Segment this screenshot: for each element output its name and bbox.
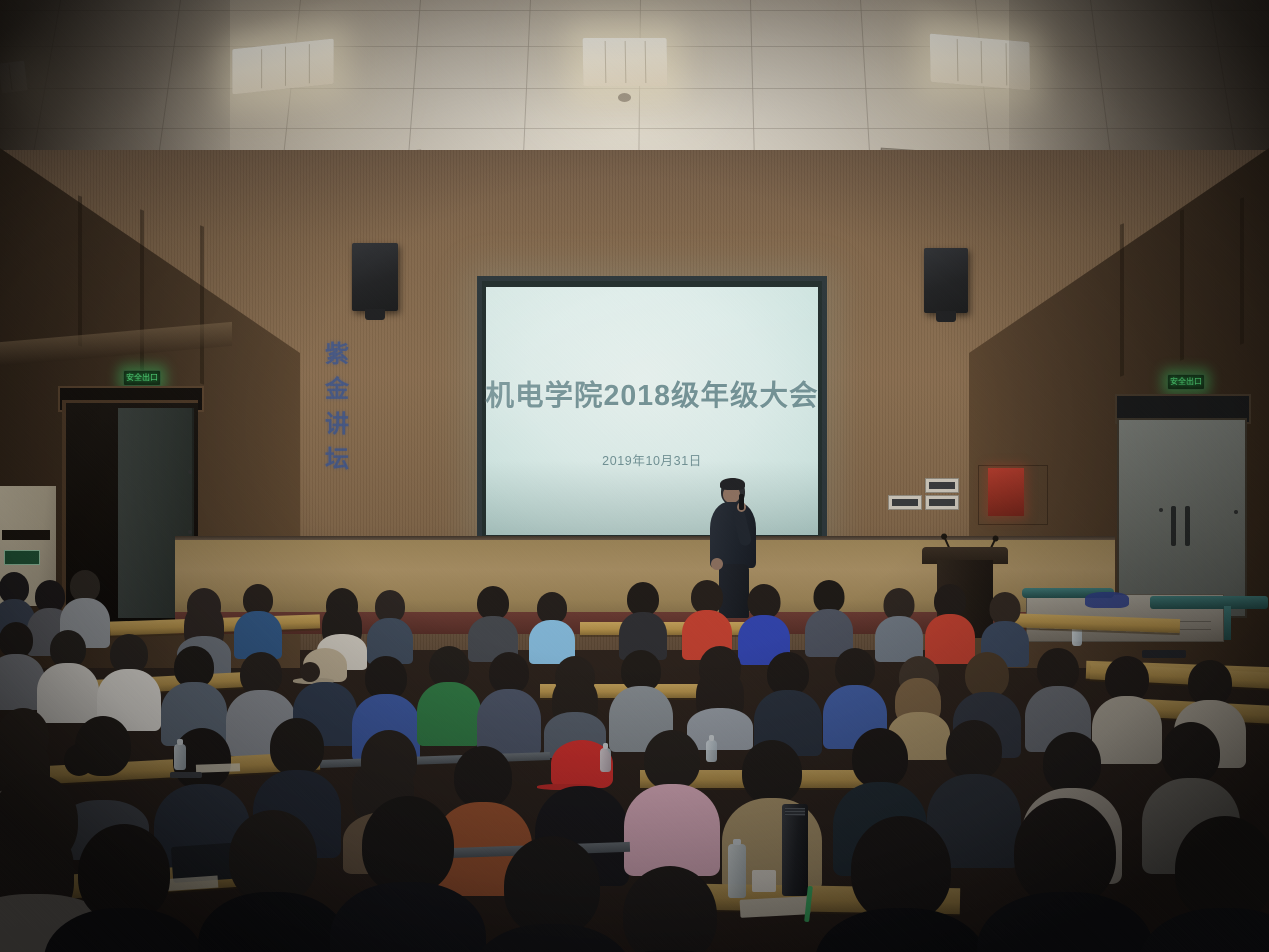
- black-thermos: [782, 804, 808, 896]
- ceiling-sensor: [618, 93, 631, 102]
- head: [229, 810, 317, 904]
- eyeglasses: [170, 772, 202, 778]
- presenter-handheld-microphone: [739, 494, 744, 510]
- head: [623, 866, 717, 952]
- audience-member: [236, 584, 280, 656]
- red-notice-sign: [988, 468, 1024, 516]
- white-cup: [752, 870, 776, 892]
- audience-member-front: [826, 816, 976, 952]
- left-door-hinge: [188, 470, 192, 474]
- head: [644, 730, 700, 790]
- audience-member: [0, 622, 42, 708]
- exit-sign-left: 安全出口: [123, 370, 161, 386]
- audience-member-front: [1150, 816, 1269, 952]
- head: [477, 586, 509, 620]
- calligraphy-char: 紫: [325, 342, 349, 366]
- head: [691, 580, 723, 614]
- wall-calligraphy: 紫 金 讲 坛: [314, 342, 360, 471]
- exit-sign-right: 安全出口: [1167, 374, 1205, 390]
- head: [1043, 732, 1101, 794]
- wall-plate: [925, 478, 959, 493]
- audience-member: [758, 652, 818, 754]
- audience-member: [40, 630, 96, 720]
- torso: [624, 784, 720, 876]
- exit-sign-text: 安全出口: [1170, 378, 1202, 386]
- calligraphy-char: 金: [325, 377, 349, 401]
- torso: [815, 908, 987, 952]
- head: [362, 796, 454, 894]
- audience-member-front: [990, 798, 1140, 952]
- left-door-hinge: [188, 530, 192, 534]
- water-bottle: [174, 744, 186, 770]
- wall-plate: [925, 495, 959, 510]
- audience-member: [630, 730, 714, 876]
- head: [1162, 722, 1220, 784]
- audience-member-front: [600, 866, 740, 952]
- projected-slide: 机电学院2018级年级大会 2019年10月31日: [486, 287, 818, 535]
- wall-panel-seam: [200, 225, 204, 385]
- projection-screen: 机电学院2018级年级大会 2019年10月31日: [477, 276, 827, 546]
- head: [1014, 798, 1116, 906]
- head: [852, 728, 908, 788]
- audience-member: [100, 634, 158, 726]
- ceiling-light-panel: [583, 38, 668, 86]
- right-door-screw: [1159, 508, 1163, 512]
- lecture-hall-photo: 紫 金 讲 坛 安全出口 安全出口 机电学院2018级年级大会 2019年10月…: [0, 0, 1269, 952]
- presenter-hair: [720, 478, 745, 490]
- water-bottle: [600, 748, 611, 772]
- calligraphy-char: 讲: [325, 412, 349, 436]
- hair-bun: [64, 744, 94, 776]
- wall-panel-seam: [78, 195, 82, 347]
- audience-member: [806, 580, 852, 656]
- screen-glare: [486, 287, 818, 535]
- exit-sign-text: 安全出口: [126, 374, 158, 382]
- head: [627, 582, 659, 616]
- head: [489, 652, 529, 694]
- audience-member-front: [54, 824, 194, 952]
- pencil-case: [740, 896, 811, 918]
- wall-speaker-right: [924, 248, 968, 313]
- head: [946, 720, 1002, 780]
- torso: [1139, 908, 1269, 952]
- calligraphy-char: 坛: [325, 447, 349, 471]
- audience-member: [480, 652, 538, 752]
- audience-area: [0, 560, 1269, 952]
- torso: [198, 892, 348, 952]
- head: [835, 648, 875, 690]
- head: [270, 718, 324, 776]
- water-bottle: [706, 740, 717, 762]
- head: [1175, 816, 1269, 922]
- right-door-screw: [1234, 510, 1238, 514]
- wall-plate: [888, 495, 922, 510]
- audience-member: [620, 582, 666, 660]
- audience-member: [368, 590, 412, 662]
- head: [934, 584, 966, 618]
- head: [0, 622, 33, 658]
- head: [742, 740, 802, 804]
- head: [748, 584, 781, 619]
- wall-speaker-left: [352, 243, 398, 311]
- audience-member-front: [208, 810, 338, 952]
- wall-panel-seam: [1180, 209, 1184, 361]
- head: [851, 816, 951, 922]
- torso: [44, 908, 204, 952]
- head: [110, 634, 148, 674]
- papers-on-desk: [196, 763, 240, 773]
- torso: [977, 892, 1153, 952]
- hair-bun: [300, 662, 320, 682]
- audience-member-front: [340, 796, 476, 952]
- torso: [330, 882, 486, 952]
- wall-panel-seam: [1240, 197, 1244, 345]
- head: [504, 836, 600, 936]
- cabinet-dark-strip: [2, 530, 50, 540]
- wall-panel-seam: [1120, 223, 1124, 377]
